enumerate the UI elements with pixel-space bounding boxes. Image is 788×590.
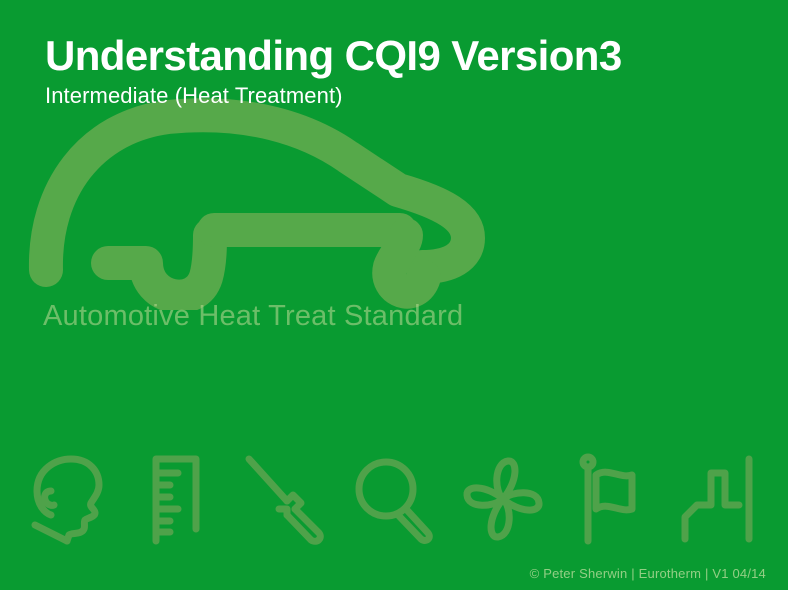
- head-profile-icon: [20, 449, 116, 549]
- title-block: Understanding CQI9 Version3 Intermediate…: [45, 33, 622, 109]
- ruler-icon: [129, 449, 225, 549]
- fan-icon: [455, 449, 551, 549]
- page-title: Understanding CQI9 Version3: [45, 33, 622, 78]
- footer-credit: © Peter Sherwin | Eurotherm | V1 04/14: [530, 566, 766, 581]
- magnifier-icon: [346, 449, 442, 549]
- page-subtitle: Intermediate (Heat Treatment): [45, 84, 622, 108]
- watermark-caption: Automotive Heat Treat Standard: [43, 300, 463, 333]
- flag-icon: [563, 449, 659, 549]
- presentation-slide: Understanding CQI9 Version3 Intermediate…: [0, 0, 788, 590]
- probe-screwdriver-icon: [237, 449, 333, 549]
- temperature-profile-icon: [672, 449, 768, 549]
- icon-strip: [0, 444, 788, 554]
- car-outline-graphic: [18, 95, 488, 310]
